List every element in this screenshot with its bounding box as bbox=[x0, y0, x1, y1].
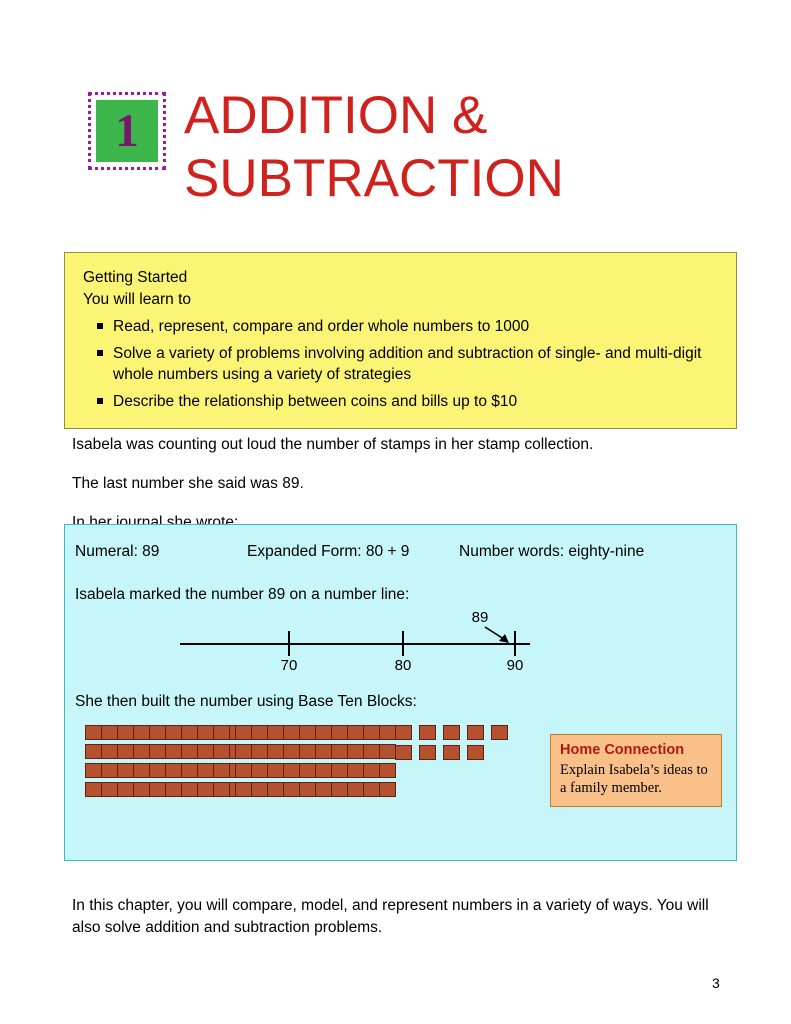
base-ten-units-group bbox=[395, 725, 515, 765]
unit-brick bbox=[235, 744, 252, 759]
number-line-label-80: 80 bbox=[395, 657, 412, 674]
unit-brick bbox=[101, 725, 118, 740]
unit-brick bbox=[267, 763, 284, 778]
unit-brick bbox=[149, 763, 166, 778]
unit-brick bbox=[181, 744, 198, 759]
unit-cube bbox=[467, 725, 484, 740]
unit-brick bbox=[379, 763, 396, 778]
unit-brick bbox=[235, 725, 252, 740]
unit-brick bbox=[347, 744, 364, 759]
unit-brick bbox=[133, 763, 150, 778]
blocks-caption: She then built the number using Base Ten… bbox=[75, 693, 417, 711]
unit-brick bbox=[363, 763, 380, 778]
unit-brick bbox=[213, 725, 230, 740]
unit-cube bbox=[395, 745, 412, 760]
unit-brick bbox=[165, 763, 182, 778]
unit-brick bbox=[85, 763, 102, 778]
number-line-label-90: 90 bbox=[507, 657, 524, 674]
unit-brick bbox=[165, 725, 182, 740]
unit-brick bbox=[117, 782, 134, 797]
base-ten-rod bbox=[85, 782, 245, 797]
unit-cube bbox=[395, 725, 412, 740]
chapter-title-line1: ADDITION & bbox=[184, 84, 564, 147]
unit-brick bbox=[299, 782, 316, 797]
unit-brick bbox=[347, 782, 364, 797]
unit-brick bbox=[181, 725, 198, 740]
objective-text: Read, represent, compare and order whole… bbox=[113, 318, 529, 335]
unit-brick bbox=[251, 725, 268, 740]
units-row bbox=[395, 725, 515, 740]
unit-brick bbox=[267, 725, 284, 740]
unit-brick bbox=[331, 782, 348, 797]
home-connection-text: Explain Isabela’s ideas to a family memb… bbox=[560, 761, 712, 797]
chapter-number-badge: 1 bbox=[88, 92, 166, 170]
unit-cube bbox=[467, 745, 484, 760]
unit-brick bbox=[213, 763, 230, 778]
number-line-callout-89: 89 bbox=[472, 609, 489, 626]
unit-brick bbox=[149, 744, 166, 759]
list-item: Describe the relationship between coins … bbox=[83, 391, 718, 412]
unit-brick bbox=[149, 782, 166, 797]
bullet-square-icon bbox=[97, 350, 103, 356]
numberline-caption: Isabela marked the number 89 on a number… bbox=[75, 586, 409, 604]
units-row bbox=[395, 745, 515, 760]
number-representations-row: Numeral: 89 Expanded Form: 80 + 9 Number… bbox=[75, 543, 725, 561]
base-ten-rod bbox=[235, 763, 395, 778]
unit-brick bbox=[251, 744, 268, 759]
unit-brick bbox=[363, 782, 380, 797]
unit-brick bbox=[299, 763, 316, 778]
intro-line-1: Isabela was counting out loud the number… bbox=[72, 436, 752, 454]
home-connection-title: Home Connection bbox=[560, 742, 712, 758]
worksheet-page: 1 ADDITION & SUBTRACTION Getting Started… bbox=[0, 0, 791, 1024]
unit-brick bbox=[379, 744, 396, 759]
journal-box: Numeral: 89 Expanded Form: 80 + 9 Number… bbox=[64, 524, 737, 861]
list-item: Read, represent, compare and order whole… bbox=[83, 316, 718, 337]
unit-brick bbox=[213, 782, 230, 797]
chapter-header: 1 ADDITION & SUBTRACTION bbox=[88, 84, 564, 210]
number-line-label-70: 70 bbox=[281, 657, 298, 674]
unit-brick bbox=[85, 782, 102, 797]
unit-brick bbox=[315, 782, 332, 797]
list-item: Solve a variety of problems involving ad… bbox=[83, 343, 718, 385]
expanded-form-label: Expanded Form: 80 + 9 bbox=[247, 543, 459, 561]
unit-brick bbox=[315, 725, 332, 740]
home-connection-box: Home Connection Explain Isabela’s ideas … bbox=[550, 734, 722, 807]
page-title: ADDITION & SUBTRACTION bbox=[184, 84, 564, 210]
base-ten-rod bbox=[235, 782, 395, 797]
getting-started-box: Getting Started You will learn to Read, … bbox=[64, 252, 737, 429]
outro-paragraph: In this chapter, you will compare, model… bbox=[72, 895, 722, 939]
unit-brick bbox=[251, 782, 268, 797]
unit-cube bbox=[491, 725, 508, 740]
unit-brick bbox=[315, 744, 332, 759]
unit-brick bbox=[117, 744, 134, 759]
base-ten-rod bbox=[85, 744, 245, 759]
unit-cube bbox=[419, 725, 436, 740]
unit-brick bbox=[331, 725, 348, 740]
unit-brick bbox=[299, 744, 316, 759]
unit-brick bbox=[197, 763, 214, 778]
unit-brick bbox=[197, 725, 214, 740]
unit-brick bbox=[85, 725, 102, 740]
unit-brick bbox=[379, 782, 396, 797]
unit-brick bbox=[197, 782, 214, 797]
unit-brick bbox=[347, 725, 364, 740]
intro-line-2: The last number she said was 89. bbox=[72, 475, 752, 493]
number-line-tick-70 bbox=[288, 631, 290, 656]
unit-brick bbox=[315, 763, 332, 778]
unit-brick bbox=[117, 725, 134, 740]
unit-brick bbox=[331, 763, 348, 778]
unit-brick bbox=[101, 782, 118, 797]
base-ten-rod bbox=[235, 725, 395, 740]
chapter-title-line2: SUBTRACTION bbox=[184, 147, 564, 210]
number-line-tick-80 bbox=[402, 631, 404, 656]
chapter-number: 1 bbox=[96, 100, 158, 162]
learning-objectives-list: Read, represent, compare and order whole… bbox=[83, 316, 718, 412]
base-ten-rod bbox=[85, 763, 245, 778]
bullet-square-icon bbox=[97, 398, 103, 404]
unit-cube bbox=[443, 725, 460, 740]
unit-brick bbox=[165, 782, 182, 797]
unit-brick bbox=[283, 782, 300, 797]
unit-brick bbox=[133, 744, 150, 759]
objective-text: Describe the relationship between coins … bbox=[113, 393, 517, 410]
unit-brick bbox=[283, 725, 300, 740]
base-ten-rod bbox=[235, 744, 395, 759]
unit-brick bbox=[251, 763, 268, 778]
unit-brick bbox=[165, 744, 182, 759]
unit-cube bbox=[419, 745, 436, 760]
unit-brick bbox=[149, 725, 166, 740]
unit-brick bbox=[347, 763, 364, 778]
unit-brick bbox=[133, 782, 150, 797]
unit-brick bbox=[101, 744, 118, 759]
numeral-label: Numeral: 89 bbox=[75, 543, 247, 561]
bullet-square-icon bbox=[97, 323, 103, 329]
base-ten-rods-group-left bbox=[85, 725, 245, 801]
unit-brick bbox=[299, 725, 316, 740]
unit-brick bbox=[363, 744, 380, 759]
unit-brick bbox=[101, 763, 118, 778]
unit-brick bbox=[117, 763, 134, 778]
unit-brick bbox=[283, 744, 300, 759]
unit-brick bbox=[235, 782, 252, 797]
unit-brick bbox=[283, 763, 300, 778]
unit-brick bbox=[133, 725, 150, 740]
getting-started-subheading: You will learn to bbox=[83, 289, 718, 311]
page-number: 3 bbox=[712, 975, 720, 991]
arrow-icon bbox=[483, 625, 517, 647]
unit-brick bbox=[181, 763, 198, 778]
base-ten-rods-group-right bbox=[235, 725, 395, 801]
unit-brick bbox=[267, 782, 284, 797]
getting-started-heading: Getting Started bbox=[83, 267, 718, 289]
objective-text: Solve a variety of problems involving ad… bbox=[113, 345, 701, 383]
unit-brick bbox=[235, 763, 252, 778]
number-words-label: Number words: eighty-nine bbox=[459, 543, 709, 561]
unit-brick bbox=[197, 744, 214, 759]
unit-brick bbox=[213, 744, 230, 759]
unit-cube bbox=[443, 745, 460, 760]
unit-brick bbox=[267, 744, 284, 759]
unit-brick bbox=[181, 782, 198, 797]
base-ten-rod bbox=[85, 725, 245, 740]
unit-brick bbox=[379, 725, 396, 740]
unit-brick bbox=[85, 744, 102, 759]
unit-brick bbox=[331, 744, 348, 759]
number-line-axis bbox=[180, 643, 530, 645]
unit-brick bbox=[363, 725, 380, 740]
number-line-diagram: 70 80 90 89 bbox=[180, 617, 530, 677]
